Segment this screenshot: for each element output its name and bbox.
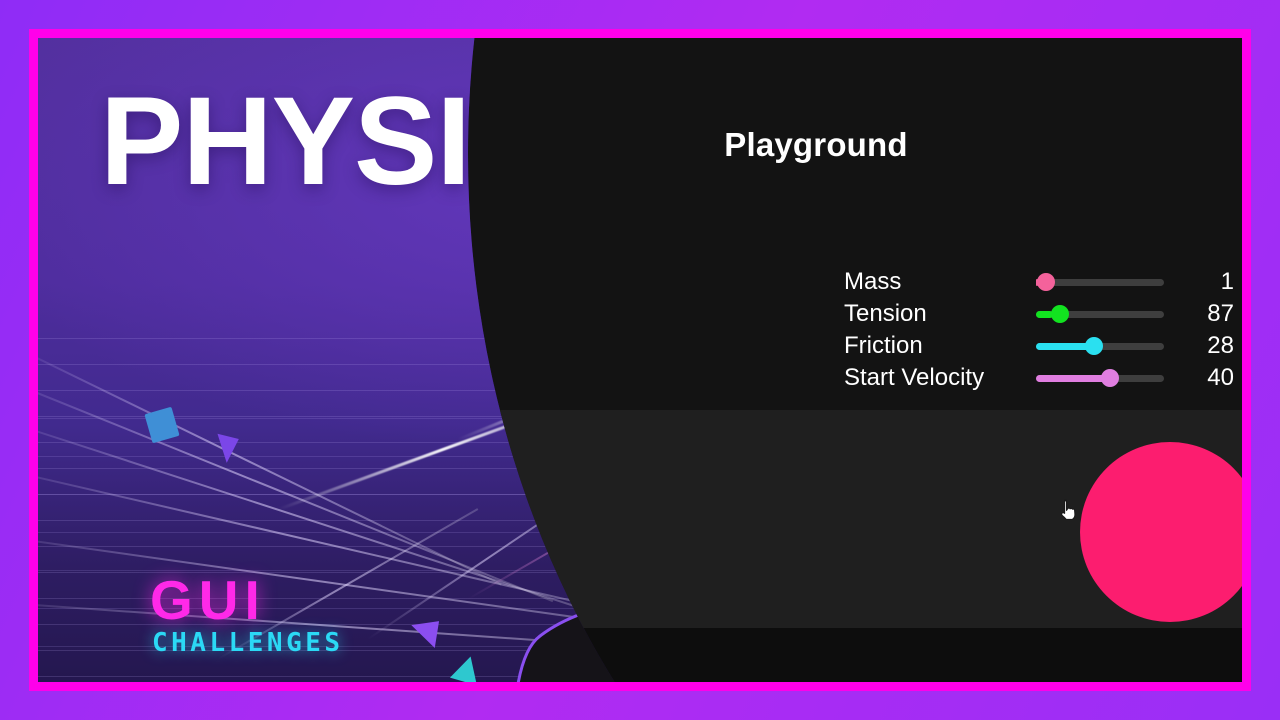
control-label-tension: Tension: [844, 302, 1036, 326]
slider-thumb[interactable]: [1085, 337, 1103, 355]
slider-fill: [1036, 375, 1106, 382]
video-frame: PHYSICS GUI CHALLENGES: [0, 0, 1280, 720]
slider-thumb[interactable]: [1051, 305, 1069, 323]
control-value-tension: 87: [1184, 302, 1234, 326]
control-value-start-velocity: 40: [1184, 366, 1234, 390]
screen-content: PHYSICS GUI CHALLENGES: [38, 38, 1242, 682]
logo-gui-text: GUI: [150, 574, 344, 626]
slider-fill: [1036, 343, 1090, 350]
control-value-friction: 28: [1184, 334, 1234, 358]
shape-purple-triangle-2: [411, 621, 442, 651]
app-title: Playground: [38, 126, 1242, 164]
slider-thumb[interactable]: [1037, 273, 1055, 291]
gui-challenges-logo: GUI CHALLENGES: [150, 574, 344, 658]
controls-list: Mass 1 Tension 87 Friction: [844, 266, 1242, 394]
slider-mass[interactable]: [1036, 273, 1164, 291]
slider-friction[interactable]: [1036, 337, 1164, 355]
pointer-hand-cursor: [1059, 499, 1077, 521]
slider-start-velocity[interactable]: [1036, 369, 1164, 387]
slider-thumb[interactable]: [1101, 369, 1119, 387]
logo-challenges-text: CHALLENGES: [152, 628, 344, 658]
control-label-mass: Mass: [844, 270, 1036, 294]
control-row-tension: Tension 87: [844, 298, 1242, 330]
host-avatar: [508, 288, 848, 682]
control-row-mass: Mass 1: [844, 266, 1242, 298]
control-label-start-velocity: Start Velocity: [844, 366, 1036, 390]
control-value-mass: 1: [1184, 270, 1234, 294]
slider-track[interactable]: [1036, 279, 1164, 286]
control-label-friction: Friction: [844, 334, 1036, 358]
control-row-start-velocity: Start Velocity 40: [844, 362, 1242, 394]
control-row-friction: Friction 28: [844, 330, 1242, 362]
slider-tension[interactable]: [1036, 305, 1164, 323]
